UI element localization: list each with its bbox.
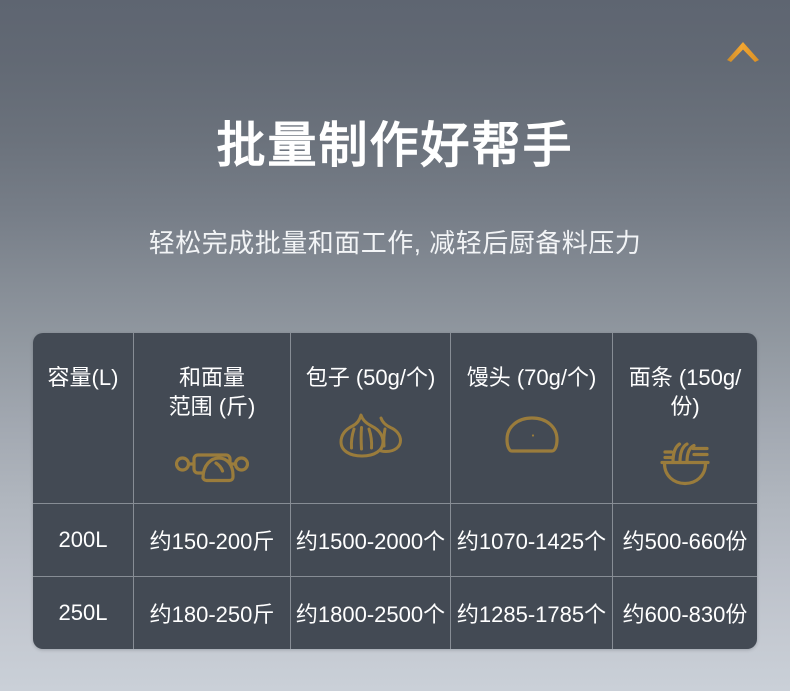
scroll-to-top-button[interactable]: [722, 38, 764, 66]
capacity-spec-table: 容量(L) 和面量 范围 (斤): [33, 333, 757, 649]
table-row: 200L 约150-200斤 约1500-2000个 约1070-1425个 约…: [33, 504, 757, 576]
column-header-label: 包子 (50g/个): [306, 363, 436, 392]
cell-noodles: 约500-660份: [612, 504, 757, 576]
page-title: 批量制作好帮手: [0, 118, 790, 176]
rolling-pin-dough-icon: [175, 435, 249, 493]
column-header-mantou: 馒头 (70g/个): [450, 333, 612, 503]
mantou-bun-icon: [499, 406, 565, 464]
cell-noodles: 约600-830份: [612, 577, 757, 649]
cell-capacity: 250L: [33, 577, 133, 649]
baozi-bun-icon: [337, 406, 405, 464]
column-header-label: 容量(L): [48, 363, 119, 392]
cell-mantou: 约1070-1425个: [450, 504, 612, 576]
column-header-label: 面条 (150g/份): [617, 363, 753, 421]
cell-mantou: 约1285-1785个: [450, 577, 612, 649]
noodle-bowl-icon: [653, 435, 717, 493]
page-subtitle: 轻松完成批量和面工作, 减轻后厨备料压力: [0, 227, 790, 261]
column-header-dough-range: 和面量 范围 (斤): [133, 333, 290, 503]
cell-baozi: 约1500-2000个: [290, 504, 450, 576]
table-row: 250L 约180-250斤 约1800-2500个 约1285-1785个 约…: [33, 576, 757, 649]
column-header-label: 和面量 范围 (斤): [169, 363, 256, 421]
cell-capacity: 200L: [33, 504, 133, 576]
column-header-capacity: 容量(L): [33, 333, 133, 503]
cell-baozi: 约1800-2500个: [290, 577, 450, 649]
product-spec-page: 批量制作好帮手 轻松完成批量和面工作, 减轻后厨备料压力 容量(L) 和面量 范…: [0, 0, 790, 691]
cell-dough-range: 约150-200斤: [133, 504, 290, 576]
column-header-noodles: 面条 (150g/份): [612, 333, 757, 503]
cell-dough-range: 约180-250斤: [133, 577, 290, 649]
chevron-up-icon: [725, 40, 761, 64]
column-header-label: 馒头 (70g/个): [467, 363, 597, 392]
table-header-row: 容量(L) 和面量 范围 (斤): [33, 333, 757, 504]
column-header-baozi: 包子 (50g/个): [290, 333, 450, 503]
